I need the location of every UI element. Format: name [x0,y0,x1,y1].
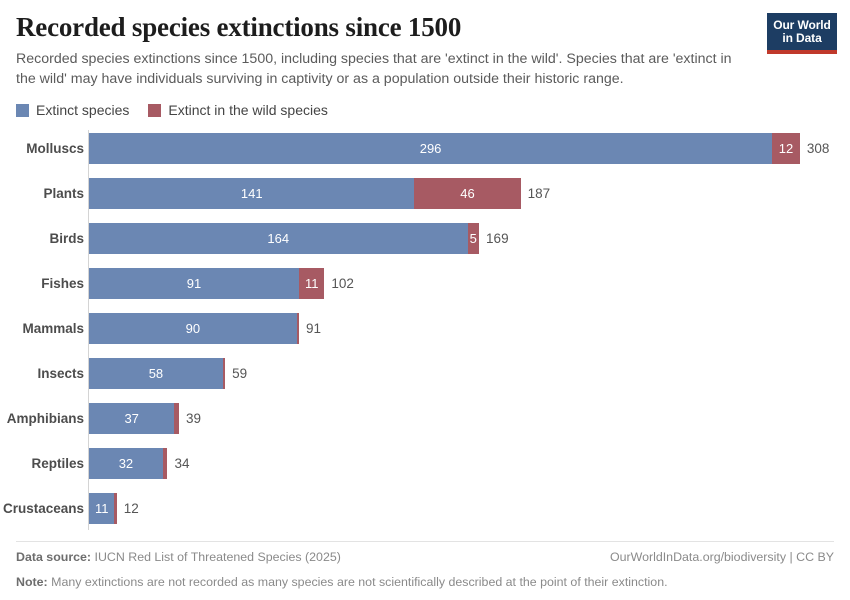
bar-row[interactable]: Mammals9091 [0,313,850,344]
bar-track[interactable]: 14146 [89,178,521,209]
bar-segment-extinct-in-wild[interactable]: 11 [299,268,324,299]
chart-subtitle: Recorded species extinctions since 1500,… [16,49,753,89]
bar-value-label: 141 [241,186,263,201]
footer-note-row: Note: Many extinctions are not recorded … [16,573,834,592]
bar-total-label: 187 [528,178,551,209]
bar-segment-extinct[interactable]: 32 [89,448,163,479]
legend-item-1[interactable]: Extinct in the wild species [148,102,328,118]
bar-category-label: Molluscs [26,133,84,164]
bar-value-label: 11 [95,501,109,516]
bar-segment-extinct[interactable]: 11 [89,493,114,524]
bar-segment-extinct-in-wild[interactable]: 46 [414,178,520,209]
chart-legend: Extinct speciesExtinct in the wild speci… [16,102,328,118]
bar-segment-extinct-in-wild[interactable] [223,358,225,389]
bar-value-label: 12 [779,141,793,156]
legend-swatch-icon [16,104,29,117]
bar-category-label: Insects [37,358,84,389]
bar-total-label: 102 [331,268,354,299]
bar-value-label: 32 [119,456,133,471]
bar-segment-extinct[interactable]: 58 [89,358,223,389]
bar-track[interactable]: 90 [89,313,299,344]
bar-total-label: 91 [306,313,321,344]
bar-category-label: Reptiles [31,448,84,479]
bar-category-label: Fishes [41,268,84,299]
bar-category-label: Amphibians [7,403,84,434]
bar-value-label: 296 [420,141,442,156]
legend-item-0[interactable]: Extinct species [16,102,129,118]
bar-segment-extinct[interactable]: 91 [89,268,299,299]
logo-line-2: in Data [782,32,821,45]
chart-footer: Data source: IUCN Red List of Threatened… [16,548,834,592]
bar-track[interactable]: 11 [89,493,117,524]
bar-segment-extinct[interactable]: 164 [89,223,468,254]
bar-total-label: 12 [124,493,139,524]
bar-value-label: 5 [470,231,477,246]
bar-track[interactable]: 58 [89,358,225,389]
bar-total-label: 34 [174,448,189,479]
bar-track[interactable]: 29612 [89,133,800,164]
note-label: Note: [16,575,48,589]
bar-category-label: Plants [43,178,84,209]
bar-total-label: 59 [232,358,247,389]
bar-row[interactable]: Insects5859 [0,358,850,389]
bar-value-label: 46 [460,186,474,201]
bar-row[interactable]: Plants14146187 [0,178,850,209]
owid-chart-page: Recorded species extinctions since 1500 … [0,0,850,600]
footer-divider [16,541,834,542]
bar-value-label: 58 [149,366,163,381]
footer-source-row: Data source: IUCN Red List of Threatened… [16,548,834,567]
bar-total-label: 308 [807,133,830,164]
bar-track[interactable]: 37 [89,403,179,434]
data-source-label: Data source: [16,550,91,564]
bar-segment-extinct-in-wild[interactable] [163,448,168,479]
bar-segment-extinct-in-wild[interactable] [174,403,179,434]
data-source: Data source: IUCN Red List of Threatened… [16,548,341,567]
bar-segment-extinct[interactable]: 296 [89,133,772,164]
bar-row[interactable]: Fishes9111102 [0,268,850,299]
bar-row[interactable]: Reptiles3234 [0,448,850,479]
attribution-link[interactable]: OurWorldInData.org/biodiversity | CC BY [610,548,834,567]
bar-row[interactable]: Amphibians3739 [0,403,850,434]
bar-category-label: Mammals [22,313,84,344]
chart-header: Recorded species extinctions since 1500 … [16,12,756,90]
bar-value-label: 91 [187,276,201,291]
legend-swatch-icon [148,104,161,117]
data-source-value: IUCN Red List of Threatened Species (202… [95,550,341,564]
bar-category-label: Crustaceans [3,493,84,524]
bar-value-label: 37 [124,411,138,426]
bar-segment-extinct-in-wild[interactable]: 12 [772,133,800,164]
bar-track[interactable]: 32 [89,448,167,479]
bar-value-label: 90 [186,321,200,336]
bar-segment-extinct-in-wild[interactable] [297,313,299,344]
logo-line-1: Our World [773,19,831,32]
bar-value-label: 164 [267,231,289,246]
bar-segment-extinct-in-wild[interactable]: 5 [468,223,480,254]
bar-track[interactable]: 1645 [89,223,479,254]
page-title: Recorded species extinctions since 1500 [16,12,756,42]
bar-row[interactable]: Birds1645169 [0,223,850,254]
bar-segment-extinct-in-wild[interactable] [114,493,116,524]
bar-segment-extinct[interactable]: 141 [89,178,414,209]
bar-value-label: 11 [305,276,319,291]
our-world-in-data-logo[interactable]: Our World in Data [767,13,837,54]
bar-row[interactable]: Crustaceans1112 [0,493,850,524]
legend-label: Extinct in the wild species [168,102,328,118]
chart-plot-area: Molluscs29612308Plants14146187Birds16451… [0,130,850,532]
bar-segment-extinct[interactable]: 37 [89,403,174,434]
note-value: Many extinctions are not recorded as man… [51,575,667,589]
bar-category-label: Birds [49,223,84,254]
bar-total-label: 169 [486,223,509,254]
bar-track[interactable]: 9111 [89,268,324,299]
bar-segment-extinct[interactable]: 90 [89,313,297,344]
legend-label: Extinct species [36,102,129,118]
bar-row[interactable]: Molluscs29612308 [0,133,850,164]
bar-total-label: 39 [186,403,201,434]
